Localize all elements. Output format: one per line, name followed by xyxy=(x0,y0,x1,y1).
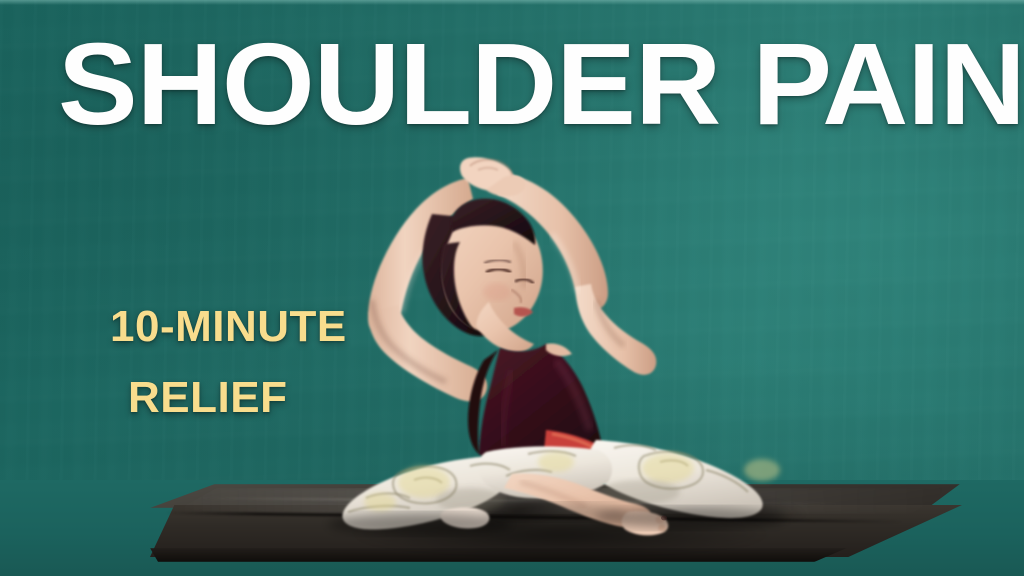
subtitle-block: 10-MINUTE RELIEF xyxy=(110,291,450,434)
page-title: SHOULDER PAIN xyxy=(58,26,1016,142)
thumbnail-canvas: SHOULDER PAIN 10-MINUTE RELIEF xyxy=(0,0,1024,576)
subtitle-line-1: 10-MINUTE xyxy=(110,291,450,362)
subtitle-line-2: RELIEF xyxy=(110,362,450,433)
